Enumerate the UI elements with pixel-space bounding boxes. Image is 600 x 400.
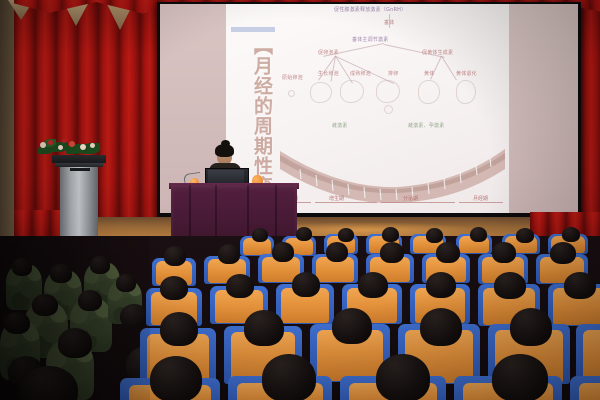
audience-head <box>382 227 399 242</box>
audience-head <box>426 272 456 298</box>
audience-head <box>272 242 294 262</box>
audience-head <box>252 228 268 242</box>
slide-title-rule <box>231 27 275 32</box>
audience-head <box>4 312 30 334</box>
audience-head <box>380 242 404 263</box>
audience-head <box>510 308 552 346</box>
flowchart-second-node: 垂体主调节激素 <box>352 36 388 43</box>
audience-head <box>550 242 576 264</box>
presenter-hair <box>215 144 234 157</box>
audience-head <box>32 294 58 316</box>
audience-head <box>358 272 388 298</box>
audience-head <box>58 328 92 358</box>
audience-head <box>160 276 188 300</box>
audience-head <box>332 308 372 344</box>
organ-label-3: 排卵 <box>388 70 398 77</box>
audience-head <box>50 264 72 283</box>
organ-label-5: 黄体退化 <box>456 70 477 77</box>
audience-head <box>516 228 534 243</box>
audience-head <box>296 227 312 241</box>
flower-arrangement <box>36 139 108 159</box>
audience-head <box>262 354 316 400</box>
screen-unlit-right <box>509 4 578 213</box>
audience-head <box>160 312 198 346</box>
audience-head <box>420 308 462 346</box>
audience-head <box>494 272 526 299</box>
audience-head <box>116 274 136 292</box>
hormone-label-left: 雌激素 <box>332 122 348 129</box>
audience-head <box>218 244 240 264</box>
audience-head <box>164 246 186 266</box>
lectern-shelf <box>55 163 103 167</box>
slide-flowchart: 促性腺激素释放激素（GnRH） 垂体 垂体主调节激素 促卵泡素 促黄体生成素 原… <box>280 4 508 144</box>
lectern <box>60 161 98 243</box>
audience-head <box>564 272 596 299</box>
phase-label-2: 分泌期 <box>403 195 418 202</box>
audience-head <box>436 242 460 263</box>
audience-head <box>292 272 320 297</box>
audience-head <box>12 258 32 276</box>
audience-head <box>562 227 580 242</box>
audience-head <box>90 256 110 274</box>
endometrium-diagram <box>280 143 505 203</box>
lectern-slot <box>70 168 90 171</box>
flowchart-top-node: 促性腺激素释放激素（GnRH） <box>334 6 406 13</box>
lecture-hall-photo: 【月经的周期性变化】 促性腺激素释放激素（GnRH） 垂体 垂体主调节激素 促卵… <box>0 0 600 400</box>
audience-head <box>150 356 202 400</box>
audience-head <box>244 310 284 346</box>
phase-label-1: 增生期 <box>329 195 344 202</box>
phase-label-3: 月经期 <box>473 195 488 202</box>
audience-head <box>426 228 443 243</box>
phase-axis: 月经期 增生期 分泌期 月经期 <box>281 196 505 208</box>
audience-head <box>338 228 354 242</box>
audience-head <box>492 354 548 400</box>
audience-head <box>226 274 254 298</box>
hormone-label-right: 雌激素、孕激素 <box>408 122 444 129</box>
audience-seating <box>0 236 600 400</box>
audience-head <box>470 227 487 242</box>
audience-head <box>78 290 102 311</box>
audience-head <box>376 354 430 400</box>
organ-label-0: 原始卵泡 <box>282 74 303 81</box>
audience-head <box>492 242 516 263</box>
audience-head <box>326 242 348 262</box>
audience-head <box>120 304 148 328</box>
